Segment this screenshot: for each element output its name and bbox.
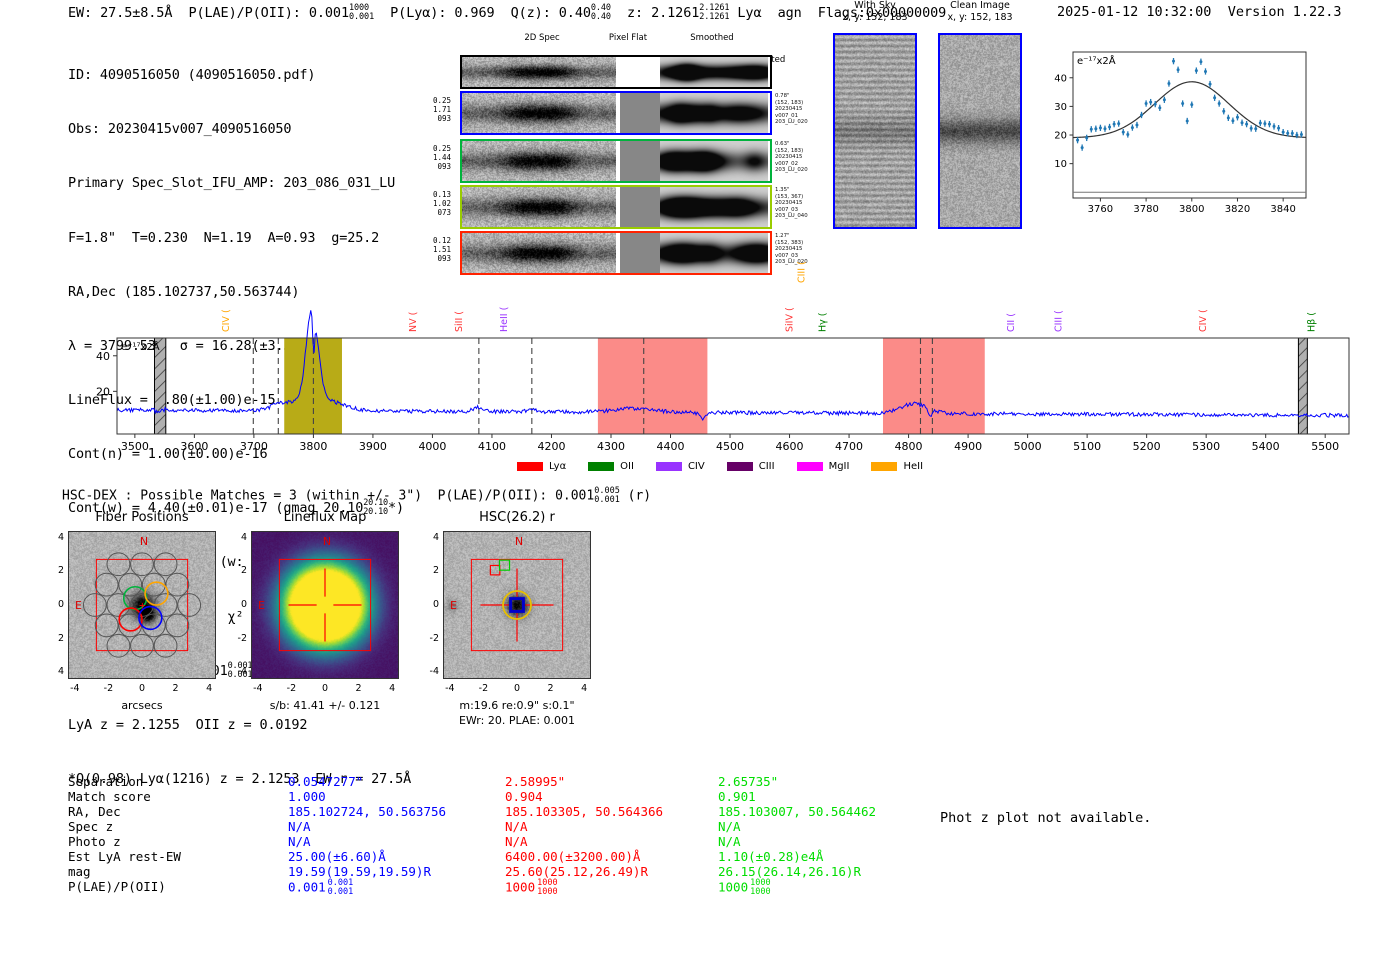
info-obs: Obs: 20230415v007_4090516050 bbox=[68, 120, 411, 138]
spec2d-right-label: 0.78" bbox=[775, 93, 833, 100]
spec2d-frame bbox=[460, 139, 772, 183]
svg-text:SiII (: SiII ( bbox=[454, 311, 465, 332]
match-row-label: Spec z bbox=[68, 819, 278, 834]
match-cell: N/A bbox=[505, 819, 528, 834]
info-redshifts: LyA z = 2.1255 OII z = 0.0192 bbox=[68, 716, 411, 734]
emission-line-label: Hβ ( bbox=[1307, 312, 1318, 332]
info-primary-spec-slot: Primary Spec_Slot_IFU_AMP: 203_086_031_L… bbox=[68, 174, 411, 192]
svg-text:Hγ (: Hγ ( bbox=[817, 313, 828, 333]
svg-text:N: N bbox=[140, 535, 148, 548]
spec2d-pixel-flat bbox=[620, 57, 662, 87]
spec2d-right-label: 1.27" bbox=[775, 233, 833, 240]
spec2d-right-label: 20230415 bbox=[775, 154, 833, 161]
svg-text:CII (: CII ( bbox=[1006, 313, 1017, 332]
header-plya: P(Lyα): 0.969 bbox=[390, 5, 494, 21]
spec2d-col-title-pixelflat: Pixel Flat bbox=[588, 33, 668, 43]
spec2d-right-label: (152, 183) bbox=[775, 100, 833, 107]
legend-item: HeII bbox=[871, 456, 923, 475]
svg-text:5500: 5500 bbox=[1311, 440, 1339, 453]
match-cell: 1.000 bbox=[288, 789, 326, 804]
header-qz: Q(z): 0.40 bbox=[511, 5, 591, 21]
svg-text:E: E bbox=[258, 599, 265, 612]
panel-xtick: 0 bbox=[505, 683, 529, 694]
line-profile-chart: 3760378038003820384010203040e⁻¹⁷x2Å bbox=[1037, 44, 1312, 224]
panel-ytick: -2 bbox=[227, 633, 247, 644]
svg-text:CIV (: CIV ( bbox=[221, 309, 232, 332]
match-cell: 0.0010.0010.001 bbox=[288, 879, 353, 897]
svg-text:N: N bbox=[515, 535, 523, 548]
match-cell: 100010001000 bbox=[505, 879, 558, 897]
hsc-dex-text: HSC-DEX : Possible Matches = 3 (within +… bbox=[62, 489, 594, 504]
match-cell: N/A bbox=[288, 834, 311, 849]
match-cell: 100010001000 bbox=[718, 879, 771, 897]
spec2d-smoothed-image bbox=[660, 141, 768, 181]
svg-text:HeII (: HeII ( bbox=[499, 307, 510, 332]
full-spectrum-chart: 2040350036003700380039004000410042004300… bbox=[117, 338, 1353, 476]
panel-xtick: -2 bbox=[279, 683, 303, 694]
header-qz-range: 0.400.40 bbox=[591, 4, 611, 22]
spec2d-left-label: 093 bbox=[417, 115, 451, 124]
svg-text:3840: 3840 bbox=[1270, 204, 1295, 215]
legend-swatch-HeII bbox=[871, 462, 897, 471]
svg-text:3700: 3700 bbox=[240, 440, 268, 453]
header-datetime: 2025-01-12 10:32:00 bbox=[1057, 4, 1211, 20]
spec2d-right-label: 203_LU_020 bbox=[775, 119, 833, 126]
header-plae-label: P(LAE)/P(OII): 0.001 bbox=[188, 5, 349, 21]
svg-text:SiIV (: SiIV ( bbox=[785, 307, 796, 332]
match-plae-range: 10001000 bbox=[537, 879, 557, 897]
svg-text:5200: 5200 bbox=[1133, 440, 1161, 453]
emission-line-label: SiIV ( bbox=[785, 307, 796, 332]
match-row-label: RA, Dec bbox=[68, 804, 278, 819]
cutout-title-1: Clean Image bbox=[910, 0, 1050, 11]
spec2d-right-label: 1.35" bbox=[775, 187, 833, 194]
match-cell: 26.15(26.14,26.16)R bbox=[718, 864, 861, 879]
panel-ytick: 4 bbox=[44, 532, 64, 543]
spec2d-image bbox=[462, 57, 616, 87]
legend-swatch-CIV bbox=[656, 462, 682, 471]
legend-swatch-MgII bbox=[797, 462, 823, 471]
hsc-dex-plae-range: 0.0050.001 bbox=[594, 487, 620, 505]
svg-text:e⁻¹⁷x2Å: e⁻¹⁷x2Å bbox=[1077, 54, 1116, 67]
panel-xtick: -2 bbox=[471, 683, 495, 694]
legend-item: CIII bbox=[727, 456, 775, 475]
spec2d-smoothed-image bbox=[660, 93, 768, 133]
svg-text:4900: 4900 bbox=[954, 440, 982, 453]
panel-ytick: 0 bbox=[44, 599, 64, 610]
header-version: Version 1.22.3 bbox=[1228, 4, 1342, 20]
match-row-label: mag bbox=[68, 864, 278, 879]
panel-ytick: -4 bbox=[227, 666, 247, 677]
legend-swatch-CIII bbox=[727, 462, 753, 471]
panel-image-2: NE bbox=[443, 531, 591, 679]
svg-text:4600: 4600 bbox=[776, 440, 804, 453]
legend-swatch-OII bbox=[588, 462, 614, 471]
spec2d-right-label: (153, 367) bbox=[775, 194, 833, 201]
emission-line-label: CIII ( bbox=[1054, 310, 1065, 332]
svg-text:4700: 4700 bbox=[835, 440, 863, 453]
panel-caption-2-0: m:19.6 re:0.9" s:0.1" bbox=[398, 699, 636, 712]
svg-text:3900: 3900 bbox=[359, 440, 387, 453]
svg-text:CIII (: CIII ( bbox=[796, 261, 807, 283]
match-cell: 0.0547277" bbox=[288, 774, 363, 789]
match-cell: 25.00(±6.60)Å bbox=[288, 849, 386, 864]
panel-xtick: -4 bbox=[246, 683, 270, 694]
svg-text:3780: 3780 bbox=[1133, 204, 1158, 215]
svg-text:4100: 4100 bbox=[478, 440, 506, 453]
svg-text:4400: 4400 bbox=[657, 440, 685, 453]
spec2d-right-label: v007_03 bbox=[775, 207, 833, 214]
legend-item: CIV bbox=[656, 456, 705, 475]
info-seeing-throughput: F=1.8" T=0.230 N=1.19 A=0.93 g=25.2 bbox=[68, 229, 411, 247]
svg-text:40: 40 bbox=[96, 350, 110, 363]
spec2d-pixel-flat bbox=[620, 187, 662, 227]
spectrum-legend: LyαOIICIVCIIIMgIIHeII bbox=[517, 456, 945, 475]
match-cell: N/A bbox=[718, 834, 741, 849]
panel-ytick: 4 bbox=[44, 666, 64, 677]
svg-text:3800: 3800 bbox=[299, 440, 327, 453]
svg-text:20: 20 bbox=[1054, 131, 1067, 142]
spec2d-right-label: 0.63" bbox=[775, 141, 833, 148]
svg-text:4000: 4000 bbox=[418, 440, 446, 453]
emission-line-label: CIV ( bbox=[1198, 309, 1209, 332]
panel-xtick: 0 bbox=[313, 683, 337, 694]
svg-text:4200: 4200 bbox=[537, 440, 565, 453]
emission-line-label: CIII ( bbox=[796, 261, 807, 283]
spec2d-col-title-smoothed: Smoothed bbox=[672, 33, 752, 43]
panel-ytick: 4 bbox=[227, 532, 247, 543]
cutout-image-0 bbox=[833, 33, 917, 229]
match-cell: 19.59(19.59,19.59)R bbox=[288, 864, 431, 879]
spec2d-pixel-flat bbox=[620, 233, 662, 273]
panel-xtick: 0 bbox=[130, 683, 154, 694]
panel-ytick: 0 bbox=[419, 599, 439, 610]
spec2d-smoothed-image bbox=[660, 233, 768, 273]
panel-image-0: +NE bbox=[68, 531, 216, 679]
svg-text:5000: 5000 bbox=[1014, 440, 1042, 453]
panel-ytick: 2 bbox=[227, 565, 247, 576]
spec2d-right-label: v007_01 bbox=[775, 113, 833, 120]
spec2d-frame bbox=[460, 185, 772, 229]
spec2d-frame bbox=[460, 231, 772, 275]
svg-text:4800: 4800 bbox=[895, 440, 923, 453]
svg-text:e⁻¹⁷x2Å: e⁻¹⁷x2Å bbox=[121, 340, 160, 353]
spec2d-right-label: (152, 383) bbox=[775, 240, 833, 247]
info-radec: RA,Dec (185.102737,50.563744) bbox=[68, 283, 411, 301]
legend-label-Lyα: Lyα bbox=[549, 461, 566, 472]
panel-ytick: -4 bbox=[419, 666, 439, 677]
match-cell: 0.901 bbox=[718, 789, 756, 804]
spec2d-right-label: 20230415 bbox=[775, 246, 833, 253]
match-cell: 1.10(±0.28)e4Å bbox=[718, 849, 823, 864]
panel-ytick: -2 bbox=[419, 633, 439, 644]
panel-ytick: 2 bbox=[44, 633, 64, 644]
header-ew: EW: 27.5±8.5Å bbox=[68, 5, 172, 21]
legend-label-CIV: CIV bbox=[688, 461, 705, 472]
match-cell: 0.904 bbox=[505, 789, 543, 804]
spec2d-right-label: 20230415 bbox=[775, 106, 833, 113]
match-plae-range: 10001000 bbox=[750, 879, 770, 897]
match-row-label: P(LAE)/P(OII) bbox=[68, 879, 278, 894]
svg-text:3820: 3820 bbox=[1225, 204, 1250, 215]
legend-swatch-Lyα bbox=[517, 462, 543, 471]
legend-label-HeII: HeII bbox=[903, 461, 923, 472]
legend-item: OII bbox=[588, 456, 634, 475]
legend-label-OII: OII bbox=[620, 461, 634, 472]
svg-text:3500: 3500 bbox=[121, 440, 149, 453]
legend-label-CIII: CIII bbox=[759, 461, 775, 472]
spec2d-image bbox=[462, 187, 616, 227]
match-cell: 2.65735" bbox=[718, 774, 778, 789]
svg-text:10: 10 bbox=[1054, 159, 1067, 170]
spec2d-left-label: 093 bbox=[417, 255, 451, 264]
panel-xtick: 4 bbox=[197, 683, 221, 694]
match-cell: 2.58995" bbox=[505, 774, 565, 789]
header-plae-range: 10000.001 bbox=[349, 4, 374, 22]
svg-text:+: + bbox=[139, 599, 146, 612]
match-row-label: Est LyA rest-EW bbox=[68, 849, 278, 864]
spec2d-pixel-flat bbox=[620, 93, 662, 133]
match-cell: 25.60(25.12,26.49)R bbox=[505, 864, 648, 879]
svg-text:5400: 5400 bbox=[1252, 440, 1280, 453]
match-row-label: Photo z bbox=[68, 834, 278, 849]
panel-xtick: 2 bbox=[539, 683, 563, 694]
panel-xtick: 4 bbox=[572, 683, 596, 694]
panel-xtick: 2 bbox=[347, 683, 371, 694]
panel-ytick: 4 bbox=[419, 532, 439, 543]
header-classification: agn bbox=[778, 5, 802, 21]
svg-text:Hβ (: Hβ ( bbox=[1307, 312, 1318, 332]
header-line: Lyα bbox=[737, 5, 761, 21]
panel-xtick: -4 bbox=[63, 683, 87, 694]
hsc-dex-tail: (r) bbox=[628, 489, 651, 504]
emission-line-label: CIV ( bbox=[221, 309, 232, 332]
spec2d-pixel-flat bbox=[620, 141, 662, 181]
emission-line-label: NV ( bbox=[408, 312, 419, 332]
spec2d-smoothed-image bbox=[660, 187, 768, 227]
match-cell: 185.103007, 50.564462 bbox=[718, 804, 876, 819]
match-cell: 6400.00(±3200.00)Å bbox=[505, 849, 640, 864]
spec2d-right-label: 20230415 bbox=[775, 200, 833, 207]
match-cell: N/A bbox=[718, 819, 741, 834]
spec2d-right-label: 203_LU_040 bbox=[775, 213, 833, 220]
spec2d-right-label: 203_LU_020 bbox=[775, 167, 833, 174]
cutout-coords-1: x, y: 152, 183 bbox=[910, 12, 1050, 23]
legend-label-MgII: MgII bbox=[829, 461, 850, 472]
svg-text:3760: 3760 bbox=[1088, 204, 1113, 215]
spec2d-frame bbox=[460, 55, 772, 89]
svg-text:CIII (: CIII ( bbox=[1054, 310, 1065, 332]
spec2d-left-label: 073 bbox=[417, 209, 451, 218]
spec2d-frame bbox=[460, 91, 772, 135]
svg-text:3600: 3600 bbox=[180, 440, 208, 453]
svg-text:E: E bbox=[450, 599, 457, 612]
match-row-label: Separation bbox=[68, 774, 278, 789]
match-plae-range: 0.0010.001 bbox=[328, 879, 354, 897]
spec2d-left-label: 093 bbox=[417, 163, 451, 172]
svg-text:40: 40 bbox=[1054, 73, 1067, 84]
panel-ytick: 0 bbox=[227, 599, 247, 610]
svg-text:NV (: NV ( bbox=[408, 312, 419, 332]
spec2d-col-title-2dspec: 2D Spec bbox=[502, 33, 582, 43]
match-cell: N/A bbox=[505, 834, 528, 849]
panel-xtick: -2 bbox=[96, 683, 120, 694]
emission-line-label: HeII ( bbox=[499, 307, 510, 332]
svg-text:5100: 5100 bbox=[1073, 440, 1101, 453]
match-cell: 185.102724, 50.563756 bbox=[288, 804, 446, 819]
svg-text:E: E bbox=[75, 599, 82, 612]
spec2d-smoothed-image bbox=[660, 57, 768, 87]
svg-text:20: 20 bbox=[96, 385, 110, 398]
match-cell: 185.103305, 50.564366 bbox=[505, 804, 663, 819]
header-timestamp-version: 2025-01-12 10:32:00 Version 1.22.3 bbox=[1057, 4, 1342, 20]
hsc-dex-summary: HSC-DEX : Possible Matches = 3 (within +… bbox=[62, 487, 651, 505]
match-cell: N/A bbox=[288, 819, 311, 834]
svg-text:3800: 3800 bbox=[1179, 204, 1204, 215]
header-z-range: 2.12612.1261 bbox=[699, 4, 729, 22]
panel-ytick: 2 bbox=[44, 565, 64, 576]
panel-ytick: 2 bbox=[419, 565, 439, 576]
emission-line-label: SiII ( bbox=[454, 311, 465, 332]
photz-note: Phot z plot not available. bbox=[940, 810, 1151, 826]
panel-image-1: NE bbox=[251, 531, 399, 679]
spec2d-right-label: v007_02 bbox=[775, 161, 833, 168]
panel-title-2: HSC(26.2) r bbox=[403, 510, 631, 525]
info-id: ID: 4090516050 (4090516050.pdf) bbox=[68, 66, 411, 84]
legend-item: MgII bbox=[797, 456, 850, 475]
legend-item: Lyα bbox=[517, 456, 566, 475]
svg-text:30: 30 bbox=[1054, 102, 1067, 113]
spec2d-right-label: (152, 183) bbox=[775, 148, 833, 155]
spec2d-image bbox=[462, 93, 616, 133]
match-row-label: Match score bbox=[68, 789, 278, 804]
panel-xtick: 4 bbox=[380, 683, 404, 694]
svg-text:5300: 5300 bbox=[1192, 440, 1220, 453]
panel-xtick: 2 bbox=[164, 683, 188, 694]
svg-text:CIV (: CIV ( bbox=[1198, 309, 1209, 332]
header-z: z: 2.1261 bbox=[627, 5, 699, 21]
cutout-image-1 bbox=[938, 33, 1022, 229]
emission-line-label: CII ( bbox=[1006, 313, 1017, 332]
panel-caption-2-1: EWr: 20. PLAE: 0.001 bbox=[398, 714, 636, 727]
spec2d-image bbox=[462, 233, 616, 273]
svg-text:N: N bbox=[323, 535, 331, 548]
svg-text:4500: 4500 bbox=[716, 440, 744, 453]
emission-line-label: Hγ ( bbox=[817, 313, 828, 333]
spec2d-image bbox=[462, 141, 616, 181]
svg-text:4300: 4300 bbox=[597, 440, 625, 453]
panel-xtick: -4 bbox=[438, 683, 462, 694]
spec2d-right-label: v007_03 bbox=[775, 253, 833, 260]
